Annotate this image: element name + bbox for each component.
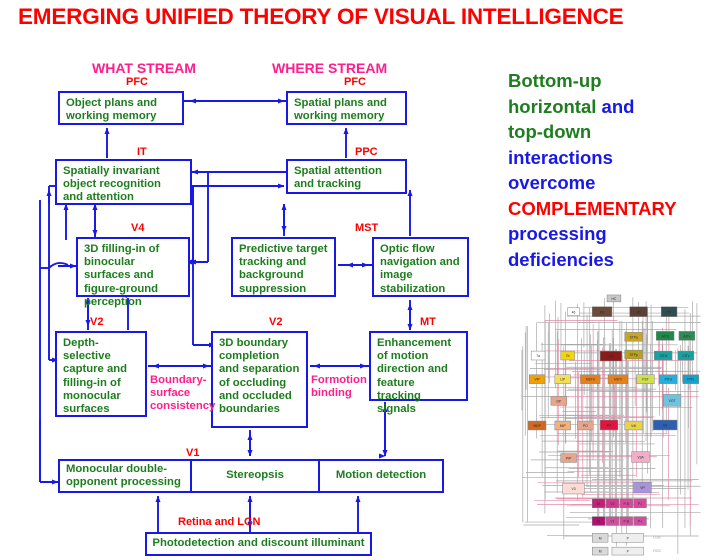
thumbnail-node-label: V4t — [631, 424, 636, 428]
thumbnail-node-label: DP — [556, 399, 561, 403]
region-label-v2-mid: V2 — [269, 316, 282, 328]
thumbnail-node-label: M — [597, 502, 600, 506]
v1-cell-motion-detection[interactable]: Motion detection — [318, 461, 442, 491]
slide-canvas: EMERGING UNIFIED THEORY OF VISUAL INTELL… — [0, 0, 712, 560]
blurb-line-4: interactions — [508, 147, 613, 168]
thumbnail-node-label: HIP — [608, 355, 614, 359]
thumbnail-node-label: 7a — [536, 354, 540, 358]
box-spatial-plans[interactable]: Spatial plans and working memory — [286, 91, 407, 125]
thumbnail-node-label: FST — [642, 378, 648, 382]
thumbnail-node-label: CITv — [682, 354, 689, 358]
box-predictive-target[interactable]: Predictive target tracking and backgroun… — [231, 237, 336, 297]
thumbnail-node-label: MIP — [560, 424, 567, 428]
thumbnail-node-label: CITd — [660, 354, 667, 358]
thumbnail-node-label: 36 — [637, 310, 641, 314]
thumbnail-node-label: V3 — [572, 487, 576, 491]
thumbnail-node-label: VP — [640, 486, 645, 490]
box-v2-left[interactable]: Depth-selective capture and filling-in o… — [55, 331, 147, 417]
thumbnail-node-label: TF — [667, 310, 671, 314]
region-label-pfc-right: PFC — [344, 76, 366, 88]
blurb-line-2a: horizontal — [508, 96, 602, 117]
region-label-pfc-left: PFC — [126, 76, 148, 88]
thumbnail-node-label: 7b — [566, 354, 570, 358]
thumbnail-node-label: STPa — [629, 335, 637, 339]
thumbnail-node-label: V3A — [637, 456, 644, 460]
v1-cell-stereopsis[interactable]: Stereopsis — [190, 461, 318, 491]
thumbnail-node-label: M — [597, 520, 600, 524]
thumbnail-node-label: VOT — [669, 399, 676, 403]
thumbnail-node-label: MSTl — [614, 378, 622, 382]
region-label-mst: MST — [355, 222, 378, 234]
thumbnail-node-label: STPp — [629, 353, 637, 357]
blurb-line-7: processing — [508, 223, 607, 244]
region-label-retina-lgn: Retina and LGN — [178, 516, 261, 528]
blurb-line-6: COMPLEMENTARY — [508, 198, 677, 219]
blurb-line-5: overcome — [508, 172, 595, 193]
thumbnail-node-label: V2 — [610, 502, 614, 506]
thumbnail-side-label: LGN — [653, 535, 661, 539]
region-label-ppc: PPC — [355, 146, 378, 158]
thumbnail-node-label: MDP — [533, 424, 541, 428]
blurb-line-2b: and — [602, 96, 635, 117]
region-label-it: IT — [137, 146, 147, 158]
annotation-boundary-surface-consistency: Boundary-surface consistency — [150, 374, 210, 414]
thumbnail-node-label: AITv — [683, 334, 690, 338]
region-label-v1: V1 — [186, 447, 199, 459]
annotation-formotion-binding: Formotion binding — [311, 374, 369, 400]
thumbnail-node-label: P-B — [623, 502, 629, 506]
thumbnail-node-label: M — [599, 550, 602, 554]
thumbnail-node-label: VIP — [534, 378, 540, 382]
thumbnail-node-label: M — [599, 536, 602, 540]
page-title: EMERGING UNIFIED THEORY OF VISUAL INTELL… — [18, 4, 708, 30]
thumbnail-node-label: V4 — [663, 424, 667, 428]
thumbnail-node-label: PO — [583, 424, 588, 428]
blurb-line-8: deficiencies — [508, 249, 614, 270]
thumbnail-node-label: ER — [600, 310, 605, 314]
thumbnail-node-label: LIP — [560, 378, 566, 382]
thumbnail-node-label: P-I — [638, 502, 642, 506]
thumbnail-node-label: AITd — [662, 334, 669, 338]
box-it[interactable]: Spatially invariant object recognition a… — [55, 159, 192, 205]
box-ppc[interactable]: Spatial attention and tracking — [286, 159, 407, 194]
thumbnail-node-label: PITd — [665, 378, 672, 382]
thumbnail-node-label: P-I — [638, 520, 642, 524]
box-v2-mid[interactable]: 3D boundary completion and separation of… — [211, 331, 308, 428]
cortical-hierarchy-thumbnail[interactable]: HCER36TF46STPaAITdAITv7a7bHIPSTPpCITdCIT… — [512, 292, 708, 558]
v1-row: Monocular double-opponent processing Ste… — [58, 459, 444, 493]
thumbnail-node-label: PITv — [687, 378, 694, 382]
thumbnail-node-label: P-B — [623, 520, 629, 524]
what-stream-header: WHAT STREAM — [92, 60, 196, 76]
region-label-v4: V4 — [131, 222, 144, 234]
box-mst[interactable]: Optic flow navigation and image stabiliz… — [372, 237, 469, 297]
thumbnail-node-label: MSTd — [586, 378, 595, 382]
thumbnail-node-label: HC — [612, 297, 617, 301]
box-mt[interactable]: Enhancement of motion direction and feat… — [369, 331, 468, 401]
where-stream-header: WHERE STREAM — [272, 60, 387, 76]
box-object-plans[interactable]: Object plans and working memory — [58, 91, 184, 125]
thumbnail-node-label: MT — [607, 424, 612, 428]
v1-cell-monocular[interactable]: Monocular double-opponent processing — [60, 461, 190, 491]
region-label-v2-left: V2 — [90, 316, 103, 328]
thumbnail-node-label: V1 — [610, 520, 614, 524]
thumbnail-node-label: 46 — [572, 310, 576, 314]
thumbnail-side-label: RGC — [653, 549, 661, 553]
region-label-mt: MT — [420, 316, 436, 328]
box-photodetection[interactable]: Photodetection and discount illuminant — [145, 532, 372, 556]
box-v4[interactable]: 3D filling-in of binocular surfaces and … — [76, 237, 190, 297]
blurb-line-1: Bottom-up — [508, 70, 602, 91]
blurb-line-3: top-down — [508, 121, 591, 142]
thumbnail-node-label: PIP — [566, 457, 572, 461]
blurb-text: Bottom-up horizontal and top-down intera… — [508, 68, 708, 272]
